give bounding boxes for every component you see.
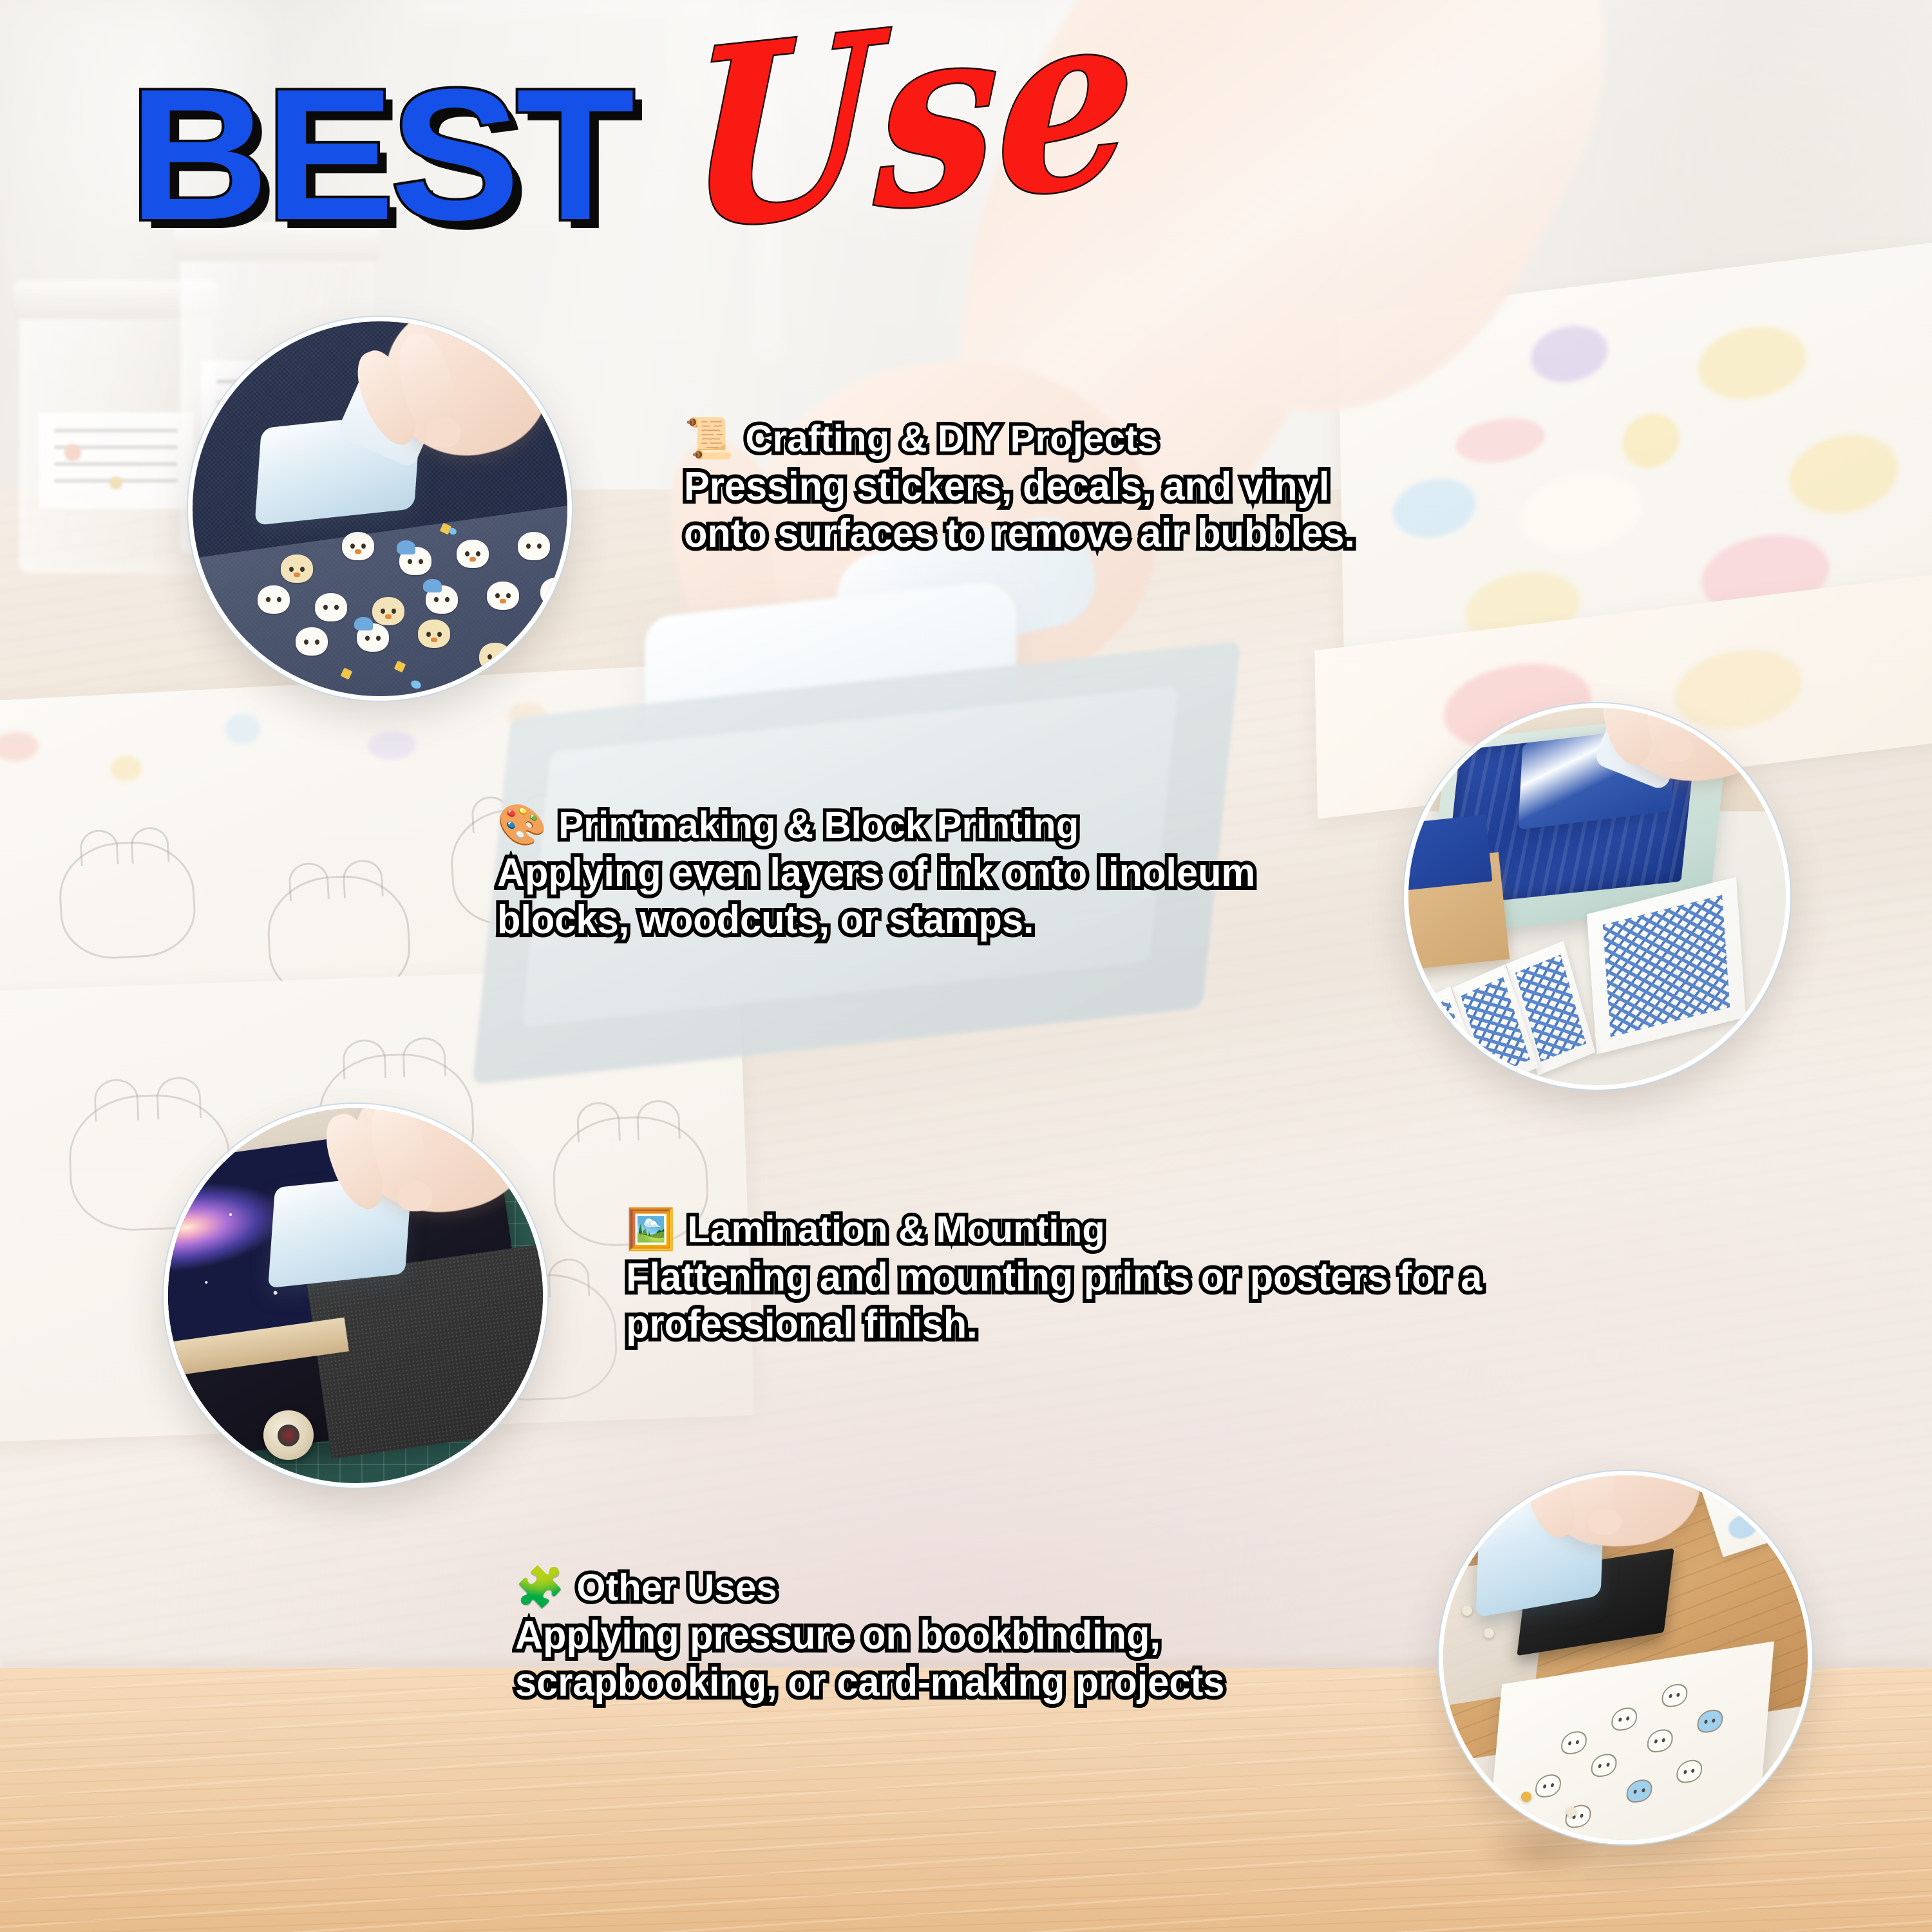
section-body: Flattening and mounting prints or poster… [626, 1254, 1553, 1348]
section-body: Applying even layers of ink onto linoleu… [497, 849, 1363, 943]
section-heading-label: Printmaking & Block Printing [558, 804, 1079, 847]
puzzle-piece-icon: 🧩 [515, 1568, 565, 1608]
photo-printmaking-ink [1404, 703, 1790, 1090]
section-printmaking: 🎨 Printmaking & Block Printing Applying … [497, 804, 1399, 943]
section-body: Applying pressure on bookbinding, scrapb… [515, 1612, 1381, 1706]
framed-picture-icon: 🖼️ [626, 1210, 676, 1250]
section-lamination: 🖼️ Lamination & Mounting Flattening and … [626, 1208, 1592, 1348]
section-heading: 🧩 Other Uses [515, 1566, 1417, 1609]
section-heading-label: Lamination & Mounting [687, 1208, 1105, 1251]
title-word-use: Use [685, 0, 1139, 265]
section-other-uses: 🧩 Other Uses Applying pressure on bookbi… [515, 1566, 1417, 1706]
section-heading-label: Crafting & DIY Projects [745, 417, 1159, 460]
photo-other-uses-cardmaking [1439, 1471, 1812, 1844]
scroll-icon: 📜 [684, 419, 734, 459]
page-title: BEST Use [129, 71, 611, 239]
photo-crafting-stickers [188, 317, 572, 701]
section-heading: 📜 Crafting & DIY Projects [684, 417, 1586, 460]
section-heading: 🎨 Printmaking & Block Printing [497, 804, 1399, 847]
palette-icon: 🎨 [497, 806, 547, 846]
section-crafting: 📜 Crafting & DIY Projects Pressing stick… [684, 417, 1586, 557]
section-heading-label: Other Uses [576, 1566, 777, 1609]
section-heading: 🖼️ Lamination & Mounting [626, 1208, 1592, 1251]
section-body: Pressing stickers, decals, and vinyl ont… [684, 463, 1549, 557]
title-word-best: BEST [129, 71, 630, 239]
photo-lamination-skateboard [164, 1104, 547, 1488]
